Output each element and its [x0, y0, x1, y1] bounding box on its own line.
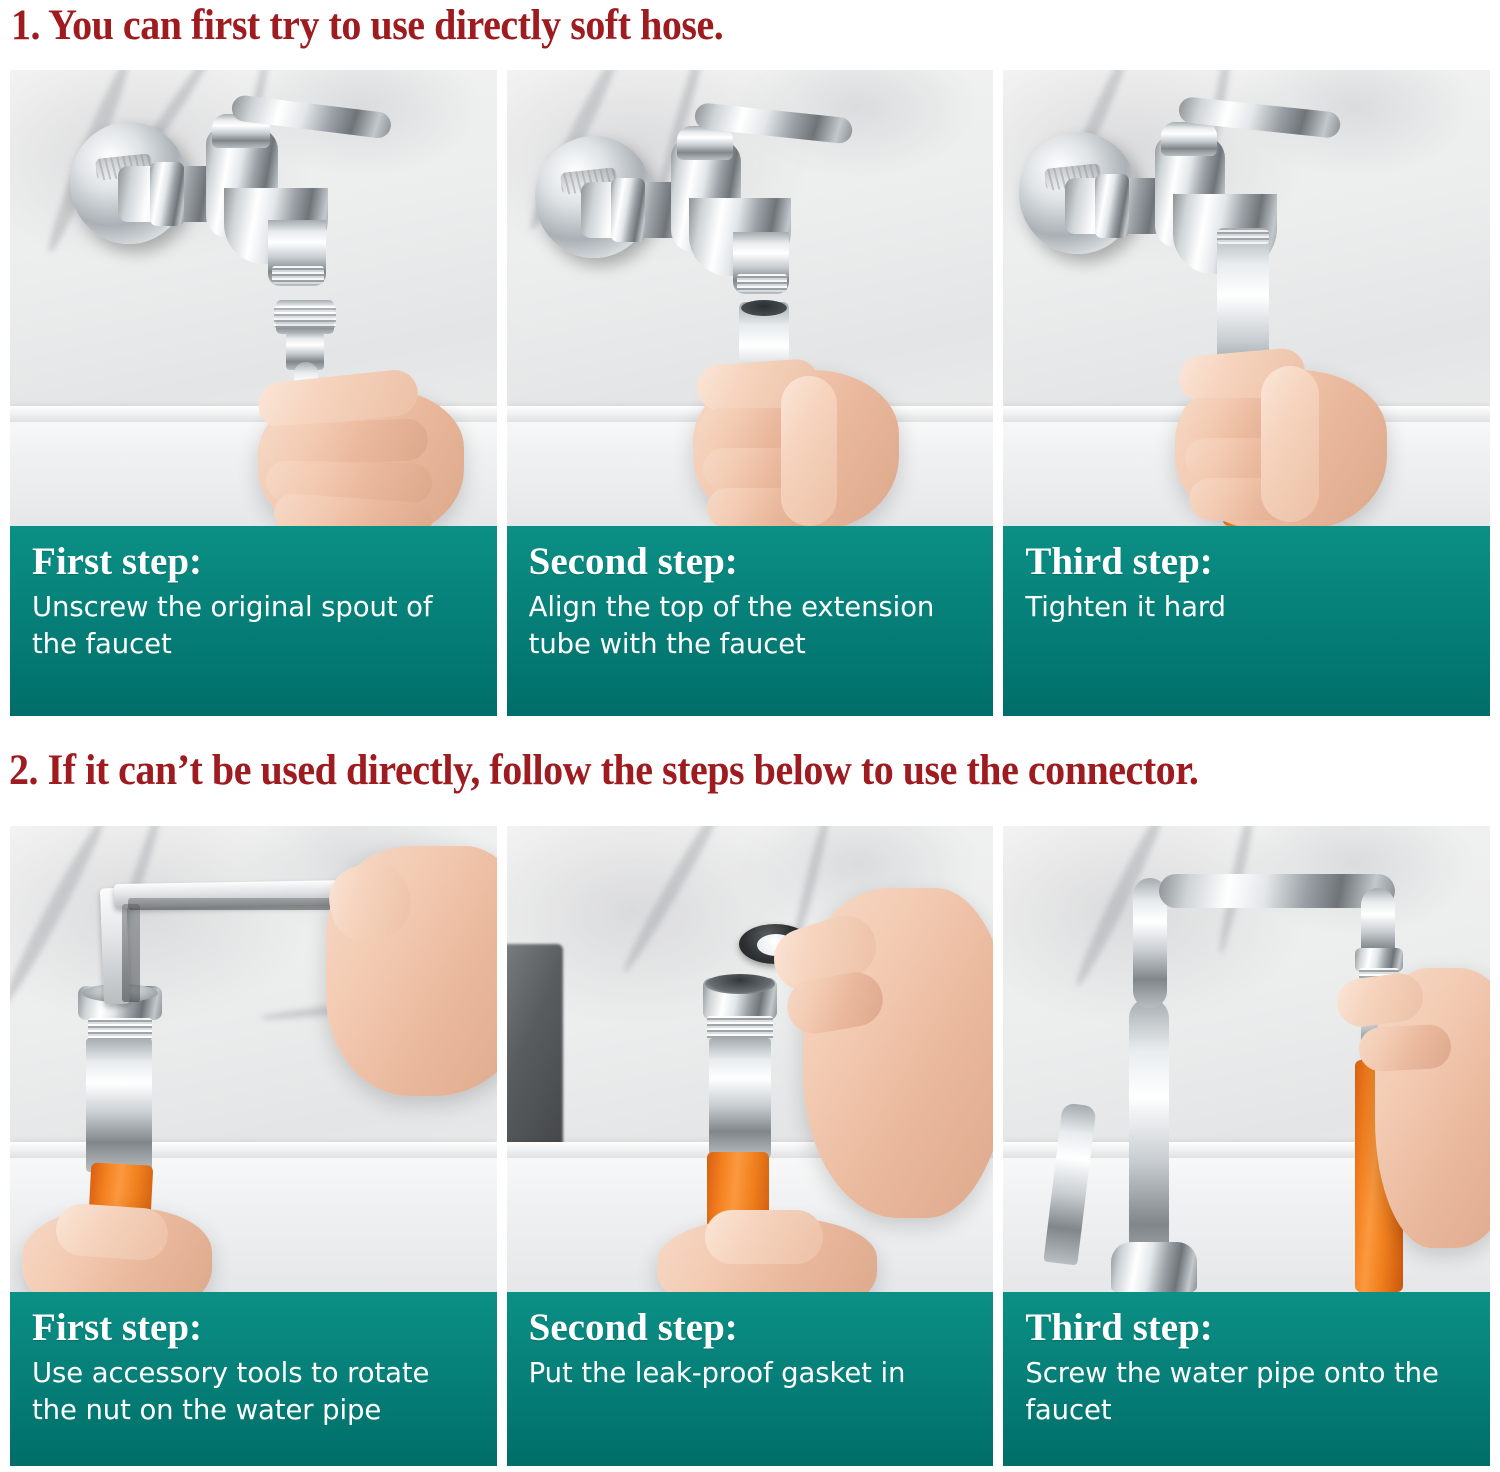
step-card-2-1: First step: Use accessory tools to rotat…	[10, 826, 497, 1466]
connector-threads	[707, 1016, 773, 1040]
step-photo-insert-gasket	[507, 826, 994, 1292]
step-caption-2-3: Third step: Screw the water pipe onto th…	[1003, 1292, 1490, 1466]
faucet-collar	[611, 178, 645, 242]
step-body: Align the top of the extension tube with…	[529, 589, 974, 662]
faucet-base	[1111, 1242, 1197, 1292]
step-body: Put the leak-proof gasket in	[529, 1355, 974, 1392]
step-card-2-3: Third step: Screw the water pipe onto th…	[1003, 826, 1490, 1466]
section-2-heading: 2. If it can’t be used directly, follow …	[9, 746, 1198, 795]
step-title: Second step:	[529, 542, 974, 583]
faucet-valve-cap	[1161, 122, 1217, 156]
counter-edge	[10, 1142, 497, 1158]
section-2-step-row: First step: Use accessory tools to rotat…	[0, 826, 1500, 1466]
step-photo-screw-onto-faucet	[1003, 826, 1490, 1292]
hex-wrench-shadow-edge	[128, 898, 356, 910]
thumb	[54, 1202, 169, 1262]
step-body: Screw the water pipe onto the faucet	[1025, 1355, 1470, 1428]
step-card-2-2: Second step: Put the leak-proof gasket i…	[507, 826, 994, 1466]
step-caption-1-1: First step: Unscrew the original spout o…	[10, 526, 497, 716]
step-body: Use accessory tools to rotate the nut on…	[32, 1355, 477, 1428]
step-title: First step:	[32, 542, 477, 583]
connector-barrel	[86, 1038, 152, 1172]
middle-finger	[1358, 1024, 1452, 1073]
step-photo-rotate-nut	[10, 826, 497, 1292]
step-body: Unscrew the original spout of the faucet	[32, 589, 477, 662]
step-card-1-2: Second step: Align the top of the extens…	[507, 70, 994, 716]
step-photo-unscrew-spout	[10, 70, 497, 526]
extension-tube-opening	[741, 300, 787, 316]
faucet-top-arm	[1159, 874, 1395, 908]
step-caption-1-3: Third step: Tighten it hard	[1003, 526, 1490, 716]
thumb	[1261, 366, 1319, 522]
step-card-1-1: First step: Unscrew the original spout o…	[10, 70, 497, 716]
connector-barrel	[709, 1038, 771, 1158]
faucet-spout-threads	[737, 274, 787, 292]
aerator-knurl	[274, 306, 336, 328]
step-title: First step:	[32, 1308, 477, 1349]
faucet-spout-threads	[272, 266, 324, 284]
step-body: Tighten it hard	[1025, 589, 1470, 626]
joint-threads	[1217, 230, 1269, 244]
step-title: Third step:	[1025, 1308, 1470, 1349]
section-1-heading: 1. You can first try to use directly sof…	[11, 1, 723, 50]
step-title: Third step:	[1025, 542, 1470, 583]
step-card-1-3: Third step: Tighten it hard	[1003, 70, 1490, 716]
step-photo-align-tube	[507, 70, 994, 526]
thumb	[781, 376, 837, 526]
section-1-step-row: First step: Unscrew the original spout o…	[0, 70, 1500, 716]
faucet-collar	[150, 162, 184, 226]
step-caption-2-1: First step: Use accessory tools to rotat…	[10, 1292, 497, 1466]
step-title: Second step:	[529, 1308, 974, 1349]
instruction-sheet: 1. You can first try to use directly sof…	[0, 0, 1500, 1472]
connector-opening	[705, 974, 775, 994]
step-caption-1-2: Second step: Align the top of the extens…	[507, 526, 994, 716]
step-photo-tighten	[1003, 70, 1490, 526]
hex-wrench-shadow-edge	[122, 904, 140, 1002]
connector-threads	[88, 1018, 152, 1040]
step-caption-2-2: Second step: Put the leak-proof gasket i…	[507, 1292, 994, 1466]
thumb-lower	[705, 1210, 823, 1264]
faucet-collar	[1095, 174, 1129, 238]
